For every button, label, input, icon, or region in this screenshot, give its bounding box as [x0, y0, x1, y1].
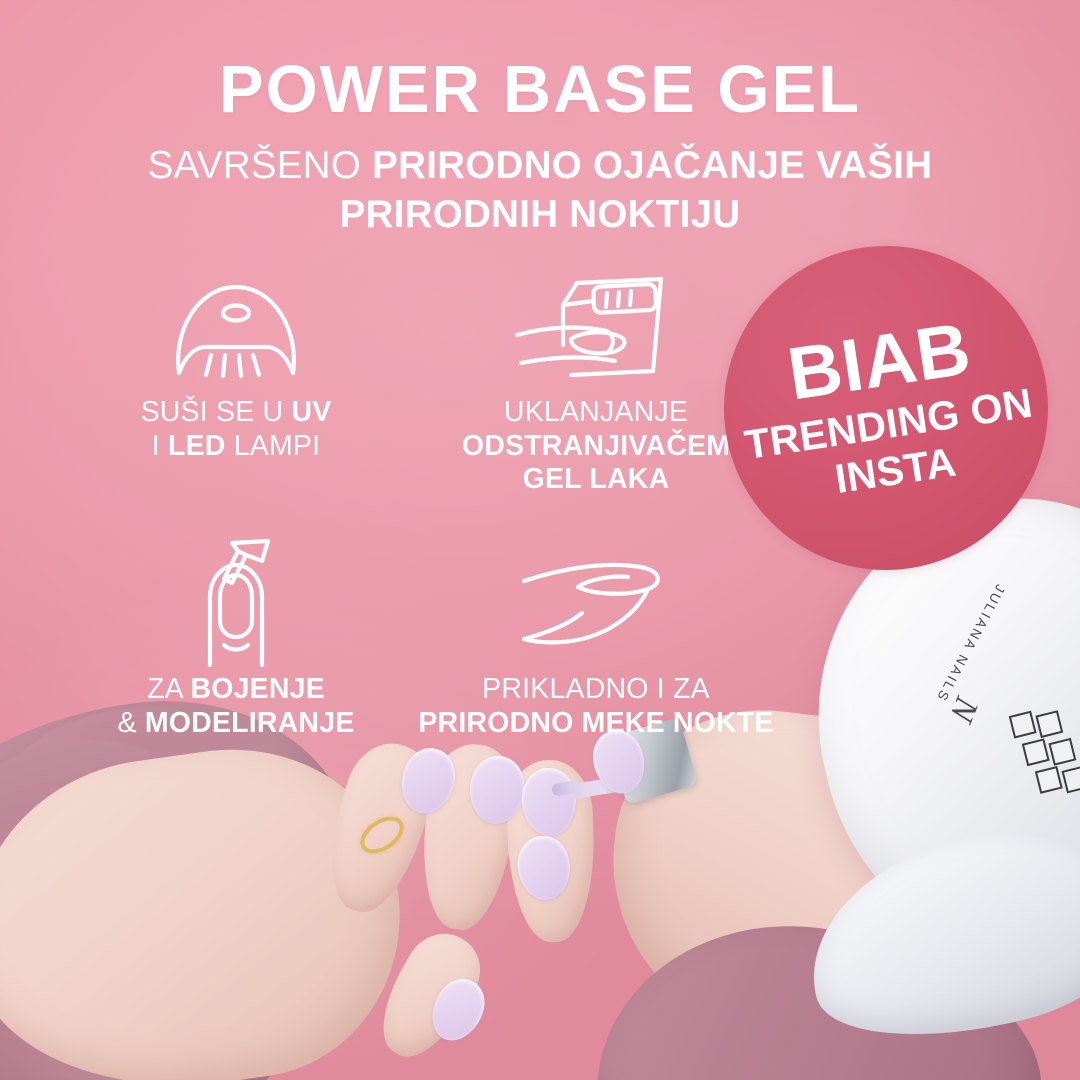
feature-soak-off-removal: UKLANJANJE ODSTRANJIVAČEM GEL LAKA: [416, 272, 776, 497]
feat1-line2-light-a: I: [152, 430, 168, 462]
feat1-line1-bold: UV: [291, 396, 331, 428]
feature-soft-natural-nails-label: PRIKLADNO I ZA PRIRODNO MEKE NOKTE: [416, 673, 776, 740]
feature-grid: SUŠI SE U UV I LED LAMPI: [56, 272, 776, 740]
nail-brush-finger-icon: [56, 539, 416, 667]
page-title: POWER BASE GEL: [0, 56, 1080, 123]
subtitle-line1: SAVRŠENO PRIRODNO OJAČANJE VAŠIH: [148, 144, 933, 187]
subtitle-line1-light: SAVRŠENO: [148, 144, 373, 187]
feat3-line2-bold: MODELIRANJE: [145, 707, 355, 739]
feature-uv-led-lamp: SUŠI SE U UV I LED LAMPI: [56, 272, 416, 497]
subtitle-line1-bold: PRIRODNO OJAČANJE VAŠIH: [372, 144, 932, 187]
feat2-line1-light: UKLANJANJE: [504, 396, 688, 428]
feat4-line1-light: PRIKLADNO I ZA: [482, 673, 710, 705]
page-subtitle: SAVRŠENO PRIRODNO OJAČANJE VAŠIH PRIRODN…: [0, 141, 1080, 240]
foil-wrap-removal-icon: [416, 272, 776, 390]
headline-block: POWER BASE GEL SAVRŠENO PRIRODNO OJAČANJ…: [0, 56, 1080, 240]
uv-led-lamp-icon: [56, 272, 416, 390]
feat2-line2-bold: ODSTRANJIVAČEM: [462, 430, 730, 462]
feature-uv-led-lamp-label: SUŠI SE U UV I LED LAMPI: [56, 396, 416, 463]
feat2-line3-bold: GEL LAKA: [523, 463, 670, 495]
feat3-line2-light: &: [118, 707, 145, 739]
feature-row-2: ZA BOJENJE & MODELIRANJE PRIKLADNO I ZA …: [56, 539, 776, 740]
flexible-nail-icon: [416, 539, 776, 667]
feat4-line2-bold: PRIRODNO MEKE NOKTE: [418, 707, 773, 739]
feature-soft-natural-nails: PRIKLADNO I ZA PRIRODNO MEKE NOKTE: [416, 539, 776, 740]
feature-soak-off-removal-label: UKLANJANJE ODSTRANJIVAČEM GEL LAKA: [416, 396, 776, 497]
feature-colour-and-sculpt-label: ZA BOJENJE & MODELIRANJE: [56, 673, 416, 740]
feat3-line1-light: ZA: [147, 673, 190, 705]
feature-row-1: SUŠI SE U UV I LED LAMPI: [56, 272, 776, 497]
badge-text-group: BIAB TRENDING ON INSTA: [730, 303, 1042, 512]
promo-poster: JULIANA NAILS N POWER BASE GEL SAVRŠENO …: [0, 0, 1080, 1080]
feat1-line1-light: SUŠI SE U: [141, 396, 292, 428]
subtitle-line2-bold: PRIRODNIH NOKTIJU: [340, 193, 741, 236]
feature-colour-and-sculpt: ZA BOJENJE & MODELIRANJE: [56, 539, 416, 740]
biab-trending-badge: BIAB TRENDING ON INSTA: [724, 246, 1048, 570]
feat1-line2-bold: LED: [168, 430, 226, 462]
feat3-line1-bold: BOJENJE: [190, 673, 324, 705]
feat1-line2-light-b: LAMPI: [226, 430, 321, 462]
